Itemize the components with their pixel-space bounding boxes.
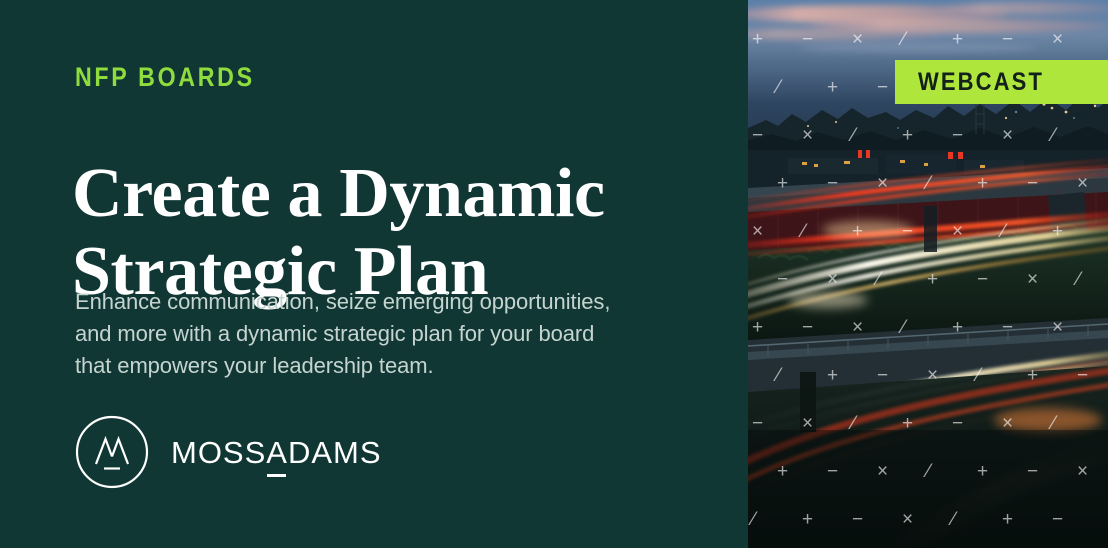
description-line-2: and more with a dynamic strategic plan f… <box>75 318 725 350</box>
marketing-banner: + − × ⁄ + − × ⁄ + − × ⁄ + − − × ⁄ + − × … <box>0 0 1108 548</box>
moss-adams-logo[interactable]: MOSSADAMS <box>75 414 382 490</box>
wordmark-a-underlined: A <box>266 435 288 470</box>
description-line-1: Enhance communication, seize emerging op… <box>75 286 725 318</box>
wordmark-moss: MOSS <box>171 435 266 470</box>
content-panel: NFP BOARDS Create a Dynamic Strategic Pl… <box>0 0 748 548</box>
wordmark-dams: DAMS <box>288 435 382 470</box>
moss-adams-mountain-icon <box>75 415 149 489</box>
description-line-3: that empowers your leadership team. <box>75 350 725 382</box>
eyebrow-category-label: NFP BOARDS <box>75 64 255 91</box>
description-text: Enhance communication, seize emerging op… <box>75 286 725 382</box>
webcast-badge: WEBCAST <box>895 60 1108 104</box>
webcast-badge-label: WEBCAST <box>918 68 1044 97</box>
moss-adams-wordmark: MOSSADAMS <box>171 437 382 468</box>
headline-line-1: Create a Dynamic <box>72 155 732 233</box>
